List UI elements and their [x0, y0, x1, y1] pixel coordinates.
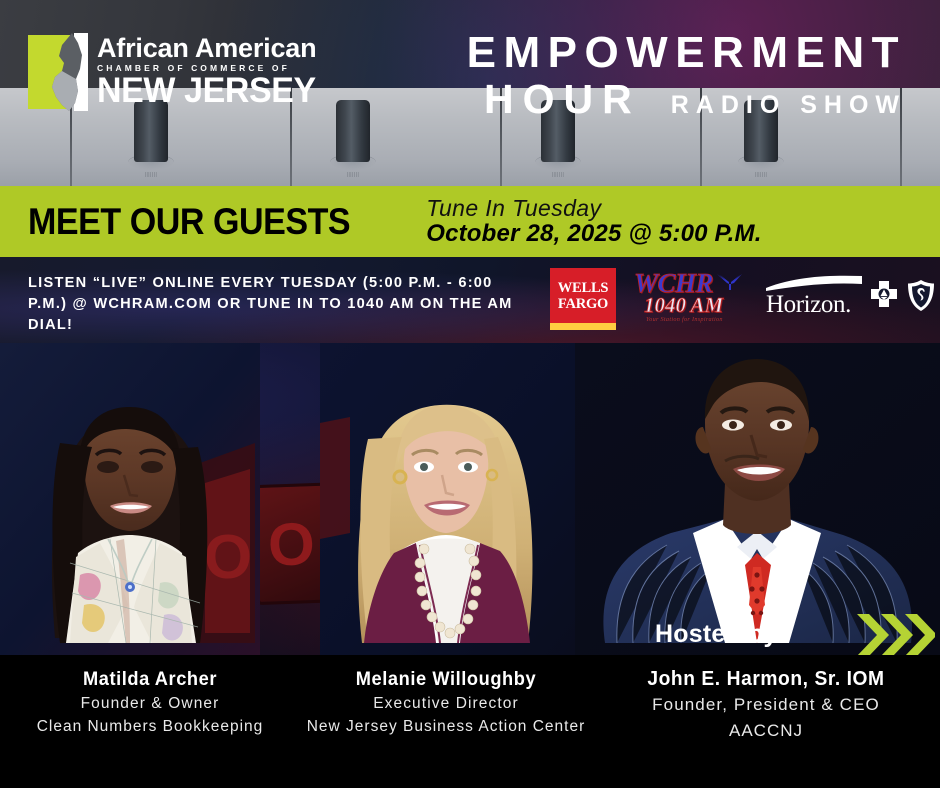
guest-name: Melanie Willoughby: [306, 667, 586, 692]
chevron-right-icon: [855, 612, 935, 658]
tune-in-label: Tune In Tuesday: [426, 196, 761, 220]
show-title-empowerment: EMPOWERMENT: [467, 30, 906, 76]
mixer-knob-icon: |||||||: [330, 100, 376, 178]
guest-org: Clean Numbers Bookkeeping: [0, 715, 300, 738]
wells-fargo-logo: WELLS FARGO: [550, 268, 616, 323]
horizon-bcbs-logo: Horizon.: [766, 275, 936, 317]
listen-live-text: LISTEN “LIVE” ONLINE EVERY TUESDAY (5:00…: [28, 273, 528, 336]
aaccnj-logo-text: African American CHAMBER OF COMMERCE OF …: [97, 33, 323, 107]
wchr-1040am-logo: WCHR 1040 AM Your Station for Inspiratio…: [634, 271, 740, 321]
guest-org: New Jersey Business Action Center: [300, 715, 592, 738]
guest-role: Founder & Owner: [0, 692, 300, 715]
meet-our-guests-banner: MEET OUR GUESTS Tune In Tuesday October …: [0, 186, 940, 257]
guest-caption-2: Melanie Willoughby Executive Director Ne…: [300, 667, 592, 738]
guest-photo-melanie-willoughby: [320, 343, 575, 655]
blue-shield-icon: [906, 279, 936, 313]
host-name: John E. Harmon, Sr. IOM: [599, 667, 933, 692]
guest-photo-row: ON O: [0, 343, 940, 655]
horizon-swoosh-icon: [766, 275, 862, 292]
blue-cross-icon: [869, 280, 899, 312]
dove-icon: [716, 271, 742, 291]
banner-heading: MEET OUR GUESTS: [28, 201, 350, 243]
wells-fargo-gold-bar: [550, 323, 616, 330]
host-role: Founder, President & CEO: [592, 692, 940, 718]
guest-caption-1: Matilda Archer Founder & Owner Clean Num…: [0, 667, 300, 738]
wchr-frequency: 1040 AM: [644, 296, 740, 315]
logo-line-1: African American: [97, 35, 323, 61]
mixer-knob-icon: |||||||: [128, 100, 174, 178]
air-time-block: Tune In Tuesday October 28, 2025 @ 5:00 …: [426, 196, 761, 246]
empowerment-hour-promo-poster: ||||||| ||||||| ||||||| |||||||: [0, 0, 940, 788]
show-title-hour: HOUR: [484, 78, 641, 120]
horizon-wordmark: Horizon.: [766, 292, 862, 317]
hosted-by-label: Hosted by: [655, 620, 778, 649]
wells-fargo-line-2: FARGO: [558, 296, 609, 312]
guest-photo-matilda-archer: O: [0, 343, 260, 655]
host-caption: John E. Harmon, Sr. IOM Founder, Preside…: [592, 667, 940, 744]
host-photo-john-harmon: [575, 343, 940, 655]
wchr-tagline: Your Station for Inspiration: [646, 316, 740, 323]
logo-line-3: NEW JERSEY: [97, 75, 316, 107]
new-jersey-state-outline-icon: [28, 33, 88, 111]
host-org: AACCNJ: [592, 718, 940, 744]
guest-name: Matilda Archer: [6, 667, 294, 692]
sponsor-logo-row: WELLS FARGO WCHR 1040 AM Your Station fo…: [550, 268, 936, 323]
svg-text:O: O: [204, 523, 252, 592]
air-date-label: October 28, 2025 @ 5:00 P.M.: [426, 221, 761, 246]
poster-header: ||||||| ||||||| ||||||| |||||||: [0, 0, 940, 186]
aaccnj-logo: African American CHAMBER OF COMMERCE OF …: [28, 33, 323, 111]
show-title-radio-show: RADIO SHOW: [671, 90, 906, 120]
show-title: EMPOWERMENT HOUR RADIO SHOW: [467, 30, 906, 120]
guest-captions-bar: Matilda Archer Founder & Owner Clean Num…: [0, 655, 940, 788]
wells-fargo-line-1: WELLS: [558, 280, 609, 296]
guest-role: Executive Director: [300, 692, 592, 715]
